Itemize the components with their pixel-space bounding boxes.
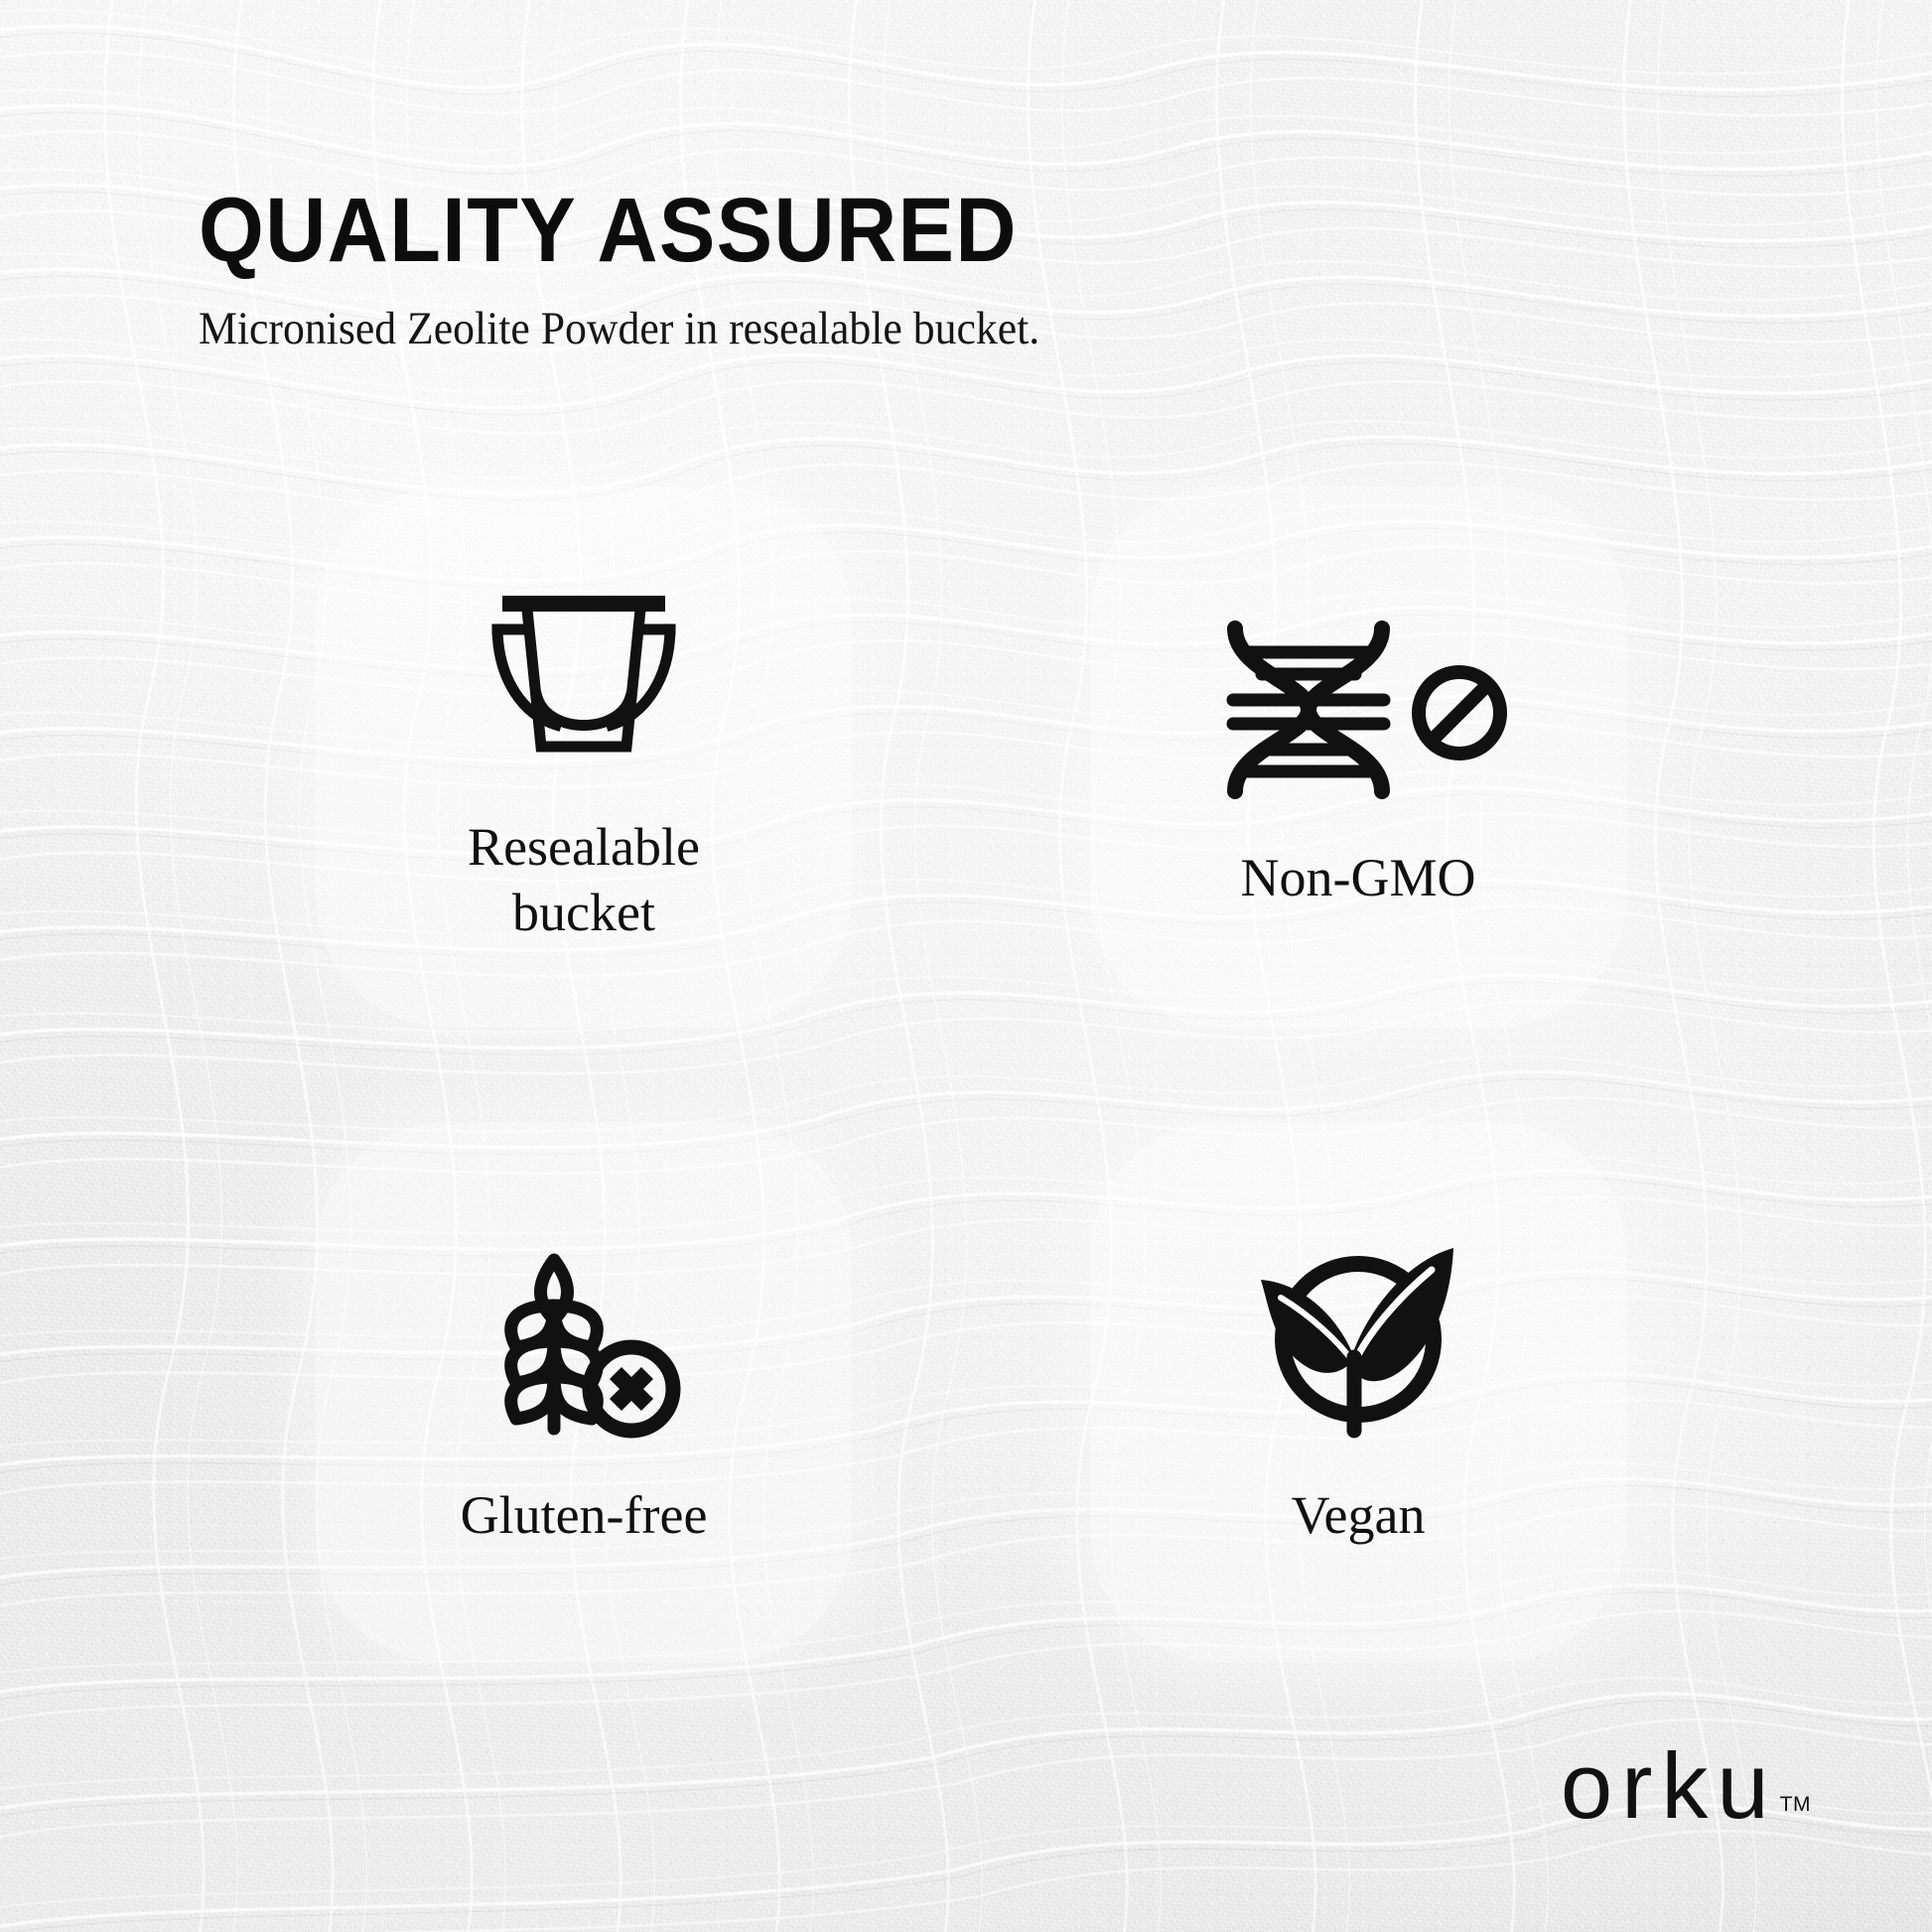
wheat-stalk-icon bbox=[511, 1260, 598, 1429]
cross-circle-icon bbox=[590, 1347, 673, 1431]
page-subtitle: Micronised Zeolite Powder in resealable … bbox=[199, 302, 1584, 355]
feature-card-label: Non-GMO bbox=[1241, 846, 1476, 911]
bucket-icon bbox=[470, 568, 698, 781]
feature-card-vegan: Vegan bbox=[1090, 1122, 1626, 1663]
feature-card-label: Gluten-free bbox=[461, 1483, 708, 1549]
page-title: QUALITY ASSURED bbox=[199, 185, 1569, 276]
dna-helix-icon bbox=[1233, 628, 1384, 791]
feature-card-label: Resealable bucket bbox=[468, 815, 700, 946]
feature-card-resealable-bucket: Resealable bucket bbox=[316, 486, 852, 1028]
feature-card-label: Vegan bbox=[1292, 1483, 1426, 1549]
infographic-canvas: QUALITY ASSURED Micronised Zeolite Powde… bbox=[0, 0, 1932, 1932]
leaf-circle-icon bbox=[1244, 1236, 1472, 1449]
feature-grid: Resealable bucket bbox=[316, 486, 1626, 1663]
prohibited-icon bbox=[1408, 661, 1511, 764]
wheat-crossed-out-icon bbox=[470, 1236, 698, 1449]
feature-card-non-gmo: Non-GMO bbox=[1090, 486, 1626, 1028]
trademark-symbol: TM bbox=[1780, 1793, 1811, 1817]
brand-logo: orku TM bbox=[1561, 1744, 1811, 1829]
header-block: QUALITY ASSURED Micronised Zeolite Powde… bbox=[199, 185, 1688, 355]
feature-card-gluten-free: Gluten-free bbox=[316, 1122, 852, 1663]
brand-name: orku bbox=[1561, 1744, 1778, 1829]
infographic-content: QUALITY ASSURED Micronised Zeolite Powde… bbox=[0, 0, 1932, 1932]
dna-prohibited-icon bbox=[1244, 603, 1472, 816]
